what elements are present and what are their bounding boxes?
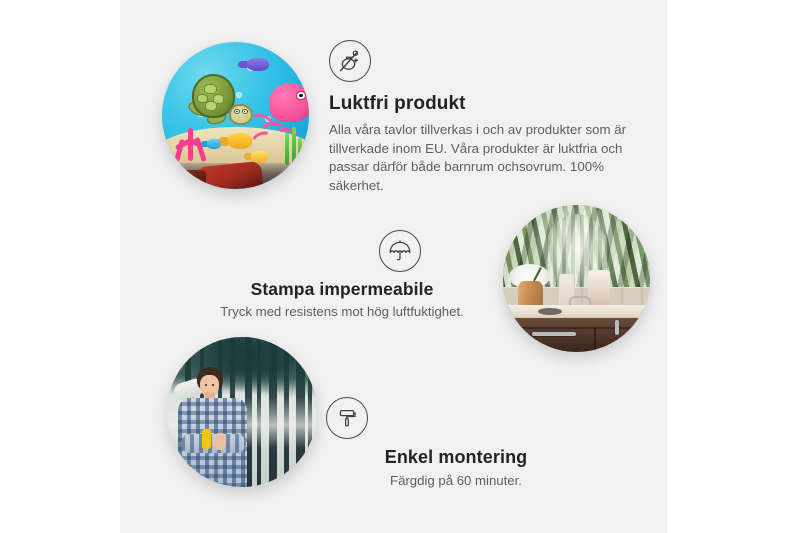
umbrella-icon [379,230,421,272]
fish-blue-small [206,139,221,149]
fish-yellow-small [250,151,268,163]
shipwreck-debris [183,170,207,188]
feature-title: Luktfri produkt [329,92,629,116]
paint-roller-icon [326,397,368,439]
wooden-cabinet [512,318,650,352]
photo-aquarium-mural[interactable] [162,42,309,189]
feature-body: Alla våra tavlor tillverkas i och av pro… [329,121,629,195]
feature-odourless-product: Luktfri produkt Alla våra tavlor tillver… [329,40,629,195]
photo-painter-forest[interactable] [167,337,317,487]
roller-grip [202,429,211,448]
person-painter [176,367,263,487]
product-feature-panel: Luktfri produkt Alla våra tavlor tillver… [0,0,800,533]
fish-yellow [227,133,252,149]
fish-purple [246,58,270,71]
feature-title: Stampa impermeabile [182,278,502,300]
seaweed-illustration [283,127,304,165]
feature-title: Enkel montering [326,446,586,469]
hand [214,433,226,450]
feature-body: Färgdig på 60 minuter. [326,472,586,490]
turtle-illustration [188,74,250,127]
feature-easy-mounting: Enkel montering Färgdig på 60 minuter. [326,397,586,490]
photo-bathroom-vanity[interactable] [503,205,650,352]
feature-body: Tryck med resistens mot hög luftfuktighe… [182,303,502,321]
feature-waterproof-print: Stampa impermeabile Tryck med resistens … [182,230,502,321]
no-fragrance-icon [329,40,371,82]
